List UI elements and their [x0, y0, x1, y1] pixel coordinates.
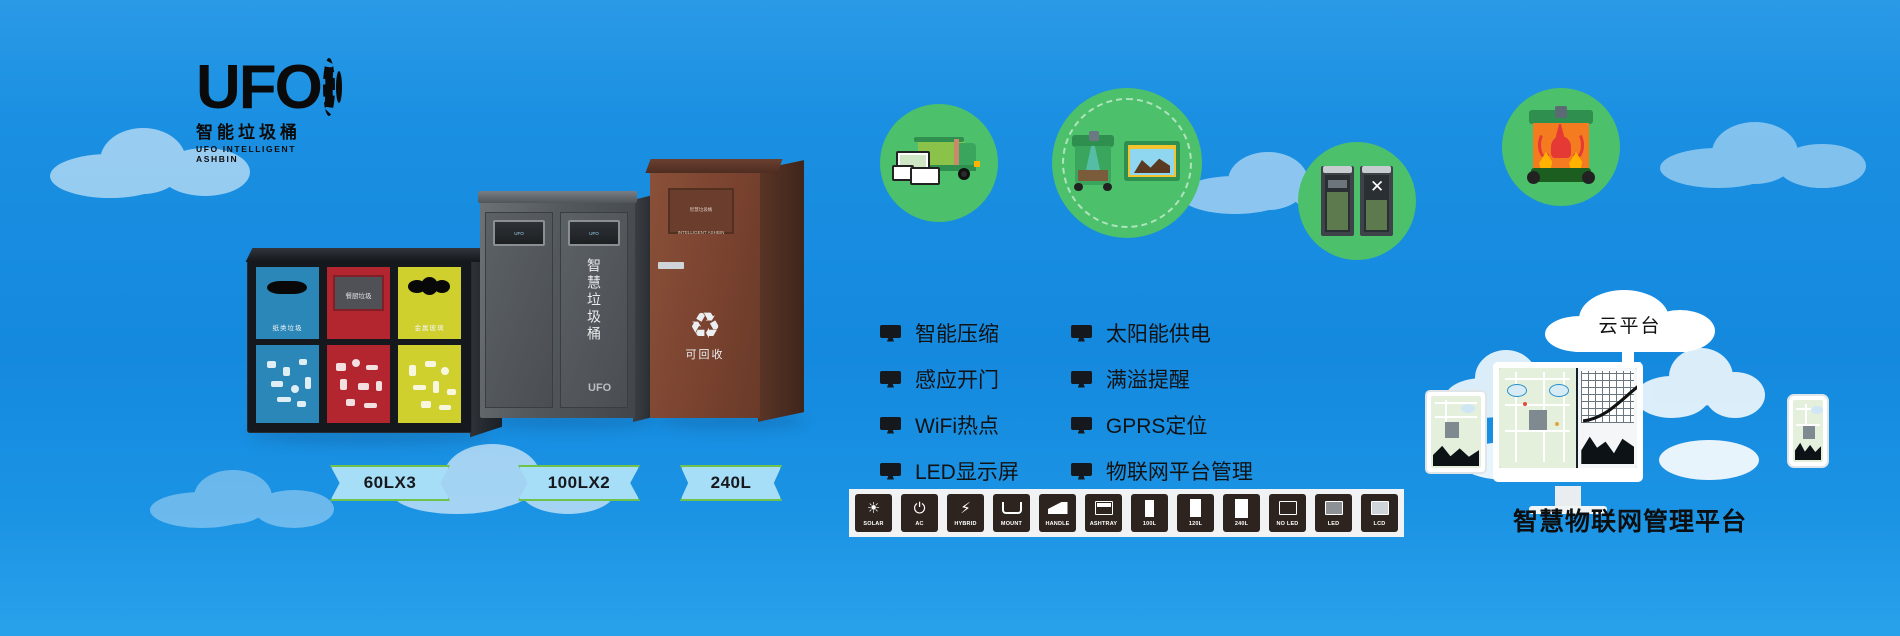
litter-graphic-red [332, 357, 385, 415]
monitor-icon [1071, 325, 1092, 342]
spec-icon-lcd: LCD [1361, 494, 1398, 532]
spec-label: 100L [1143, 521, 1156, 527]
handle-icon [1044, 497, 1071, 519]
feature-column-left: 智能压缩 感应开门 WiFi热点 LED显示屏 [880, 318, 1019, 486]
bin3-panel-lower-yellow [398, 345, 461, 423]
bin3-panel-lower-red [327, 345, 390, 423]
ufo-ring-icon [323, 58, 335, 116]
spec-label: 240L [1235, 521, 1248, 527]
cloud-platform-label: 云平台 [1545, 290, 1715, 354]
capacity-label-240l: 240L [711, 473, 752, 493]
banner-stage: UFO 智能垃圾桶 UFO INTELLIGENT ASHBIN 纸类垃圾 [0, 0, 1900, 636]
monitor-icon [1071, 463, 1092, 480]
capacity-ribbon-100lx2: 100LX2 [518, 465, 640, 501]
bin2-window-text-left: UFO [495, 231, 543, 236]
feature-circle-collection-truck [880, 104, 998, 222]
feature-label: GPRS定位 [1106, 410, 1208, 440]
bin3-panel-upper-yellow: 金属玻璃 [398, 267, 461, 339]
feature-label: 智能压缩 [915, 318, 999, 348]
feature-item: 太阳能供电 [1071, 318, 1253, 348]
feature-item: 感应开门 [880, 364, 1019, 394]
spec-icon-120l: 120L [1177, 494, 1214, 532]
platform-caption: 智慧物联网管理平台 [1435, 502, 1825, 538]
plug-icon: ⏻ [906, 497, 933, 519]
bin2-window-right: UFO [568, 220, 620, 246]
logo-english-tagline: UFO INTELLIGENT ASHBIN [196, 144, 331, 164]
spec-icon-100l: 100L [1131, 494, 1168, 532]
feature-item: 智能压缩 [880, 318, 1019, 348]
capacity-label-100lx2: 100LX2 [548, 473, 611, 493]
bin2-window-left: UFO [493, 220, 545, 246]
feature-label: 感应开门 [915, 364, 999, 394]
bin3-panel-lower-blue [256, 345, 319, 423]
iot-platform-illustration: 云平台 [1435, 290, 1825, 550]
bin1-display-screen: 智慧垃圾桶 INTELLIGENT ASHBIN [668, 188, 734, 234]
bin2-brand-mark: UFO [588, 382, 611, 394]
monitor-icon [880, 417, 901, 434]
bin3-panel-label-yellow: 金属玻璃 [398, 322, 461, 332]
feature-label: 物联网平台管理 [1106, 456, 1253, 486]
feature-label: 满溢提醒 [1106, 364, 1190, 394]
phone-screen [1793, 400, 1823, 462]
bin1-screen-line1: 智慧垃圾桶 [670, 206, 732, 213]
bin-240l-icon [1228, 497, 1255, 519]
lcd-icon [1366, 497, 1393, 519]
spec-icon-solar: ☀ SOLAR [855, 494, 892, 532]
product-bin-brown-single: 智慧垃圾桶 INTELLIGENT ASHBIN ♻ 可回收 [650, 170, 760, 418]
bin-fire-alarm-icon [1502, 88, 1620, 206]
spec-icon-ashtray: ASHTRAY [1085, 494, 1122, 532]
spec-label: 120L [1189, 521, 1202, 527]
chart-view [1576, 368, 1637, 468]
bin2-top-cap [478, 191, 637, 203]
garbage-truck-with-devices-icon [880, 104, 998, 222]
round-slot-icon [408, 277, 450, 295]
capacity-ribbon-240l: 240L [680, 465, 782, 501]
bin-120l-icon [1182, 497, 1209, 519]
spec-icon-240l: 240L [1223, 494, 1260, 532]
bin1-top-cap [645, 159, 782, 173]
bin1-recycle-label: 可回收 [650, 346, 760, 362]
feature-column-right: 太阳能供电 满溢提醒 GPRS定位 物联网平台管理 [1071, 318, 1253, 486]
cloud-decoration-bottomleft [150, 470, 340, 530]
spec-icon-led: LED [1315, 494, 1352, 532]
bin-100l-icon [1136, 497, 1163, 519]
desktop-monitor [1493, 362, 1643, 482]
cloud-platform-bubble: 云平台 [1545, 290, 1715, 354]
map-view [1499, 368, 1576, 468]
ufo-logo: UFO 智能垃圾桶 UFO INTELLIGENT ASHBIN [196, 52, 331, 148]
spec-icon-hybrid: ⚡ HYBRID [947, 494, 984, 532]
product-bin-3compartment: 纸类垃圾 餐厨垃圾 [247, 258, 472, 433]
monitor-icon [1071, 371, 1092, 388]
smartphone-device [1787, 394, 1829, 468]
growth-curve [1581, 371, 1637, 423]
bin3-panel-upper-blue: 纸类垃圾 [256, 267, 319, 339]
display-panel-icon: 餐厨垃圾 [333, 275, 384, 311]
monitor-icon [880, 463, 901, 480]
bin2-vertical-label: 智慧垃圾桶 [584, 258, 604, 343]
litter-graphic-blue [261, 357, 314, 415]
feature-label: LED显示屏 [915, 456, 1019, 486]
spec-label: LCD [1374, 521, 1386, 527]
spec-label: AC [915, 521, 923, 527]
litter-graphic-yellow [403, 357, 456, 415]
dual-bin-compaction-icon: ✕ [1298, 142, 1416, 260]
hybrid-power-icon: ⚡ [952, 497, 979, 519]
feature-item: LED显示屏 [880, 456, 1019, 486]
spec-icon-no-led: NO LED [1269, 494, 1306, 532]
monitor-icon [1071, 417, 1092, 434]
spec-label: LED [1328, 521, 1340, 527]
bin2-door-left: UFO [485, 212, 553, 408]
feature-circle-sorting-transfer [1052, 88, 1202, 238]
cloud-decoration-right [1660, 120, 1870, 190]
mount-bracket-icon [998, 497, 1025, 519]
logo-wordmark: UFO [196, 60, 321, 116]
feature-item: GPRS定位 [1071, 410, 1253, 440]
monitor-icon [880, 371, 901, 388]
tablet-device [1425, 390, 1487, 474]
bin1-label-tag [658, 262, 684, 269]
bin1-recycle-block: ♻ 可回收 [650, 308, 760, 362]
spec-label: HYBRID [954, 521, 976, 527]
feature-item: 满溢提醒 [1071, 364, 1253, 394]
area-chart [1581, 428, 1634, 464]
spec-icon-ac: ⏻ AC [901, 494, 938, 532]
bin1-screen-line2: INTELLIGENT ASHBIN [670, 229, 732, 236]
spec-label: HANDLE [1045, 521, 1069, 527]
platform-cloud-right [1635, 348, 1765, 418]
spec-label: ASHTRAY [1090, 521, 1117, 527]
spec-label: MOUNT [1001, 521, 1022, 527]
feature-item: WiFi热点 [880, 410, 1019, 440]
spec-icon-handle: HANDLE [1039, 494, 1076, 532]
product-bin-double-grey: UFO UFO 智慧垃圾桶 UFO [480, 200, 635, 418]
bin2-window-text-right: UFO [570, 231, 618, 236]
feature-list: 智能压缩 感应开门 WiFi热点 LED显示屏 太阳能供电 满溢提醒 [880, 318, 1320, 486]
feature-circle-fire-alarm [1502, 88, 1620, 206]
ashtray-icon [1090, 497, 1117, 519]
bin3-panel-label-blue: 纸类垃圾 [256, 322, 319, 332]
bin1-side-face [758, 160, 804, 422]
capacity-label-60lx3: 60LX3 [364, 473, 417, 493]
bin3-panel-label-red: 餐厨垃圾 [335, 290, 382, 300]
spec-icon-strip: ☀ SOLAR ⏻ AC ⚡ HYBRID MOUNT HANDLE [849, 489, 1404, 537]
spec-icon-mount: MOUNT [993, 494, 1030, 532]
feature-item: 物联网平台管理 [1071, 456, 1253, 486]
recycle-icon: ♻ [650, 308, 760, 344]
feature-label: WiFi热点 [915, 410, 999, 440]
no-led-icon [1274, 497, 1301, 519]
monitor-screen [1499, 368, 1637, 468]
tablet-screen [1431, 396, 1481, 468]
led-icon [1320, 497, 1347, 519]
oval-slot-icon [267, 281, 307, 294]
spec-label: NO LED [1277, 521, 1299, 527]
bin3-top-cap [246, 248, 504, 262]
bin3-panel-upper-red: 餐厨垃圾 [327, 267, 390, 339]
monitor-icon [880, 325, 901, 342]
sun-icon: ☀ [860, 497, 887, 519]
feature-circle-compaction: ✕ [1298, 142, 1416, 260]
bin-to-container-transfer-icon [1052, 88, 1202, 238]
capacity-ribbon-60lx3: 60LX3 [330, 465, 450, 501]
feature-label: 太阳能供电 [1106, 318, 1211, 348]
logo-wordmark-row: UFO [196, 52, 331, 116]
spec-label: SOLAR [863, 521, 883, 527]
